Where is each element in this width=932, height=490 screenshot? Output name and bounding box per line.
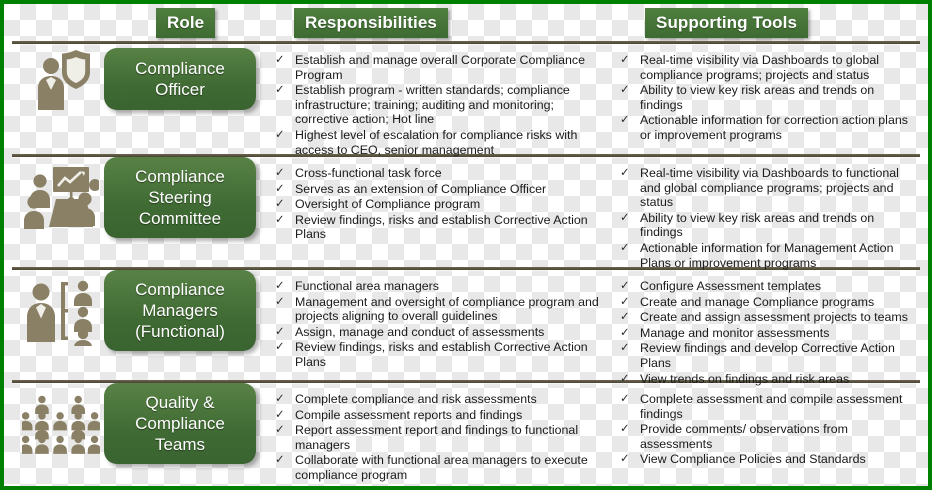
- list-item-text: Review findings, risks and establish Cor…: [295, 213, 588, 242]
- responsibilities-cell: ✓Establish and manage overall Corporate …: [269, 44, 614, 158]
- list-item-text: Collaborate with functional area manager…: [295, 453, 588, 482]
- check-icon: ✓: [275, 392, 285, 407]
- list-item: ✓Establish and manage overall Corporate …: [269, 53, 608, 82]
- list-item: ✓Review findings, risks and establish Co…: [269, 213, 608, 242]
- list-item: ✓Management and oversight of compliance …: [269, 295, 608, 324]
- matrix-rows: ComplianceOfficer✓Establish and manage o…: [4, 44, 928, 488]
- role-label-line: Compliance: [135, 413, 225, 434]
- check-icon: ✓: [620, 53, 630, 68]
- check-icon: ✓: [620, 241, 630, 256]
- list-item: ✓Configure Assessment templates: [614, 279, 918, 294]
- teams-group-icon: [22, 389, 100, 459]
- matrix-row: ComplianceManagers(Functional)✓Functiona…: [4, 270, 928, 380]
- compliance-matrix: Role Responsibilities Supporting Tools C…: [0, 0, 932, 490]
- role-label-line: Steering: [135, 187, 225, 208]
- org-chart-icon: [22, 276, 100, 346]
- supporting-tools-cell-list: ✓Real-time visibility via Dashboards to …: [614, 53, 918, 143]
- list-item: ✓Report assessment report and findings t…: [269, 423, 608, 452]
- list-item-text: Review findings and develop Corrective A…: [640, 341, 895, 370]
- check-icon: ✓: [620, 452, 630, 467]
- role-pill-quality-compliance-teams[interactable]: Quality &ComplianceTeams: [104, 383, 256, 464]
- list-item: ✓Create and manage Compliance programs: [614, 295, 918, 310]
- check-icon: ✓: [275, 325, 285, 340]
- list-item: ✓Complete assessment and compile assessm…: [614, 392, 918, 421]
- role-cell: ComplianceSteeringCommittee: [4, 157, 269, 238]
- list-item-text: Management and oversight of compliance p…: [295, 295, 599, 324]
- list-item: ✓Manage and monitor assessments: [614, 326, 918, 341]
- role-label-line: Compliance: [135, 279, 225, 300]
- responsibilities-cell-list: ✓Functional area managers✓Management and…: [269, 279, 608, 370]
- supporting-tools-cell: ✓Real-time visibility via Dashboards to …: [614, 44, 928, 144]
- list-item: ✓Establish program - written standards; …: [269, 83, 608, 127]
- list-item-text: Create and manage Compliance programs: [640, 295, 874, 309]
- list-item: ✓Create and assign assessment projects t…: [614, 310, 918, 325]
- list-item: ✓Review findings and develop Corrective …: [614, 341, 918, 370]
- role-label-line: Teams: [135, 434, 225, 455]
- role-cell: Quality &ComplianceTeams: [4, 383, 269, 464]
- check-icon: ✓: [275, 340, 285, 355]
- check-icon: ✓: [620, 422, 630, 437]
- check-icon: ✓: [275, 128, 285, 143]
- role-label-line: (Functional): [135, 321, 225, 342]
- list-item: ✓Actionable information for correction a…: [614, 113, 918, 142]
- check-icon: ✓: [620, 295, 630, 310]
- check-icon: ✓: [620, 326, 630, 341]
- role-pill-compliance-managers-functional[interactable]: ComplianceManagers(Functional): [104, 270, 256, 351]
- list-item: ✓Provide comments/ observations from ass…: [614, 422, 918, 451]
- check-icon: ✓: [620, 392, 630, 407]
- list-item-text: Real-time visibility via Dashboards to g…: [640, 53, 879, 82]
- list-item-text: Manage and monitor assessments: [640, 326, 829, 340]
- list-item-text: Ability to view key risk areas and trend…: [640, 83, 874, 112]
- responsibilities-cell-list: ✓Establish and manage overall Corporate …: [269, 53, 608, 157]
- responsibilities-cell-list: ✓Complete compliance and risk assessment…: [269, 392, 608, 483]
- list-item-text: Review findings, risks and establish Cor…: [295, 340, 588, 369]
- list-item: ✓Real-time visibility via Dashboards to …: [614, 166, 918, 210]
- list-item-text: Functional area managers: [295, 279, 439, 293]
- matrix-header: Role Responsibilities Supporting Tools: [4, 4, 928, 44]
- list-item: ✓Highest level of escalation for complia…: [269, 128, 608, 157]
- list-item: ✓Oversight of Compliance program: [269, 197, 608, 212]
- list-item-text: Compile assessment reports and findings: [295, 408, 522, 422]
- matrix-row: ComplianceSteeringCommittee✓Cross-functi…: [4, 157, 928, 267]
- check-icon: ✓: [275, 295, 285, 310]
- supporting-tools-cell: ✓Configure Assessment templates✓Create a…: [614, 270, 928, 387]
- list-item-text: Cross-functional task force: [295, 166, 442, 180]
- list-item-text: Create and assign assessment projects to…: [640, 310, 908, 324]
- role-pill-compliance-officer[interactable]: ComplianceOfficer: [104, 48, 256, 110]
- list-item-text: Complete compliance and risk assessments: [295, 392, 537, 406]
- responsibilities-cell: ✓Cross-functional task force✓Serves as a…: [269, 157, 614, 243]
- role-pill-compliance-steering-committee[interactable]: ComplianceSteeringCommittee: [104, 157, 256, 238]
- person-shield-icon: [22, 44, 100, 114]
- supporting-tools-cell: ✓Real-time visibility via Dashboards to …: [614, 157, 928, 271]
- check-icon: ✓: [620, 211, 630, 226]
- list-item-text: Serves as an extension of Compliance Off…: [295, 182, 546, 196]
- list-item-text: Ability to view key risk areas and trend…: [640, 211, 874, 240]
- check-icon: ✓: [620, 341, 630, 356]
- role-label-line: Quality &: [135, 392, 225, 413]
- list-item-text: Highest level of escalation for complian…: [295, 128, 577, 157]
- list-item: ✓Actionable information for Management A…: [614, 241, 918, 270]
- check-icon: ✓: [275, 83, 285, 98]
- column-header-responsibilities: Responsibilities: [294, 8, 448, 38]
- check-icon: ✓: [275, 408, 285, 423]
- check-icon: ✓: [275, 197, 285, 212]
- list-item: ✓Collaborate with functional area manage…: [269, 453, 608, 482]
- role-label-line: Committee: [135, 208, 225, 229]
- list-item-text: Provide comments/ observations from asse…: [640, 422, 848, 451]
- role-cell: ComplianceManagers(Functional): [4, 270, 269, 351]
- check-icon: ✓: [620, 113, 630, 128]
- role-label-line: Officer: [135, 79, 225, 100]
- check-icon: ✓: [620, 310, 630, 325]
- responsibilities-cell-list: ✓Cross-functional task force✓Serves as a…: [269, 166, 608, 242]
- list-item: ✓Real-time visibility via Dashboards to …: [614, 53, 918, 82]
- check-icon: ✓: [620, 279, 630, 294]
- list-item: ✓Assign, manage and conduct of assessmen…: [269, 325, 608, 340]
- column-header-role: Role: [156, 8, 215, 38]
- check-icon: ✓: [275, 53, 285, 68]
- supporting-tools-cell: ✓Complete assessment and compile assessm…: [614, 383, 928, 468]
- list-item: ✓Cross-functional task force: [269, 166, 608, 181]
- supporting-tools-cell-list: ✓Complete assessment and compile assessm…: [614, 392, 918, 467]
- list-item: ✓Ability to view key risk areas and tren…: [614, 211, 918, 240]
- role-label-line: Managers: [135, 300, 225, 321]
- supporting-tools-cell-list: ✓Real-time visibility via Dashboards to …: [614, 166, 918, 270]
- check-icon: ✓: [275, 213, 285, 228]
- list-item-text: Establish and manage overall Corporate C…: [295, 53, 585, 82]
- column-header-supporting-tools: Supporting Tools: [645, 8, 808, 38]
- list-item-text: Establish program - written standards; c…: [295, 83, 570, 126]
- matrix-row: Quality &ComplianceTeams✓Complete compli…: [4, 383, 928, 488]
- list-item: ✓View Compliance Policies and Standards: [614, 452, 918, 467]
- supporting-tools-cell-list: ✓Configure Assessment templates✓Create a…: [614, 279, 918, 386]
- responsibilities-cell: ✓Functional area managers✓Management and…: [269, 270, 614, 371]
- list-item: ✓Compile assessment reports and findings: [269, 408, 608, 423]
- list-item-text: Report assessment report and findings to…: [295, 423, 578, 452]
- check-icon: ✓: [275, 279, 285, 294]
- list-item-text: Assign, manage and conduct of assessment…: [295, 325, 544, 339]
- list-item-text: View Compliance Policies and Standards: [640, 452, 866, 466]
- role-label-line: Compliance: [135, 166, 225, 187]
- responsibilities-cell: ✓Complete compliance and risk assessment…: [269, 383, 614, 484]
- list-item: ✓Review findings, risks and establish Co…: [269, 340, 608, 369]
- list-item-text: Actionable information for Management Ac…: [640, 241, 893, 270]
- list-item-text: Complete assessment and compile assessme…: [640, 392, 902, 421]
- check-icon: ✓: [275, 453, 285, 468]
- meeting-presentation-icon: [22, 163, 100, 233]
- list-item-text: Configure Assessment templates: [640, 279, 821, 293]
- list-item-text: Actionable information for correction ac…: [640, 113, 908, 142]
- list-item: ✓Serves as an extension of Compliance Of…: [269, 182, 608, 197]
- role-cell: ComplianceOfficer: [4, 44, 269, 114]
- check-icon: ✓: [275, 182, 285, 197]
- role-label-line: Compliance: [135, 58, 225, 79]
- list-item: ✓Complete compliance and risk assessment…: [269, 392, 608, 407]
- check-icon: ✓: [275, 423, 285, 438]
- list-item-text: Real-time visibility via Dashboards to f…: [640, 166, 899, 209]
- matrix-row: ComplianceOfficer✓Establish and manage o…: [4, 44, 928, 154]
- list-item-text: Oversight of Compliance program: [295, 197, 480, 211]
- check-icon: ✓: [275, 166, 285, 181]
- check-icon: ✓: [620, 166, 630, 181]
- check-icon: ✓: [620, 83, 630, 98]
- list-item: ✓Functional area managers: [269, 279, 608, 294]
- list-item: ✓Ability to view key risk areas and tren…: [614, 83, 918, 112]
